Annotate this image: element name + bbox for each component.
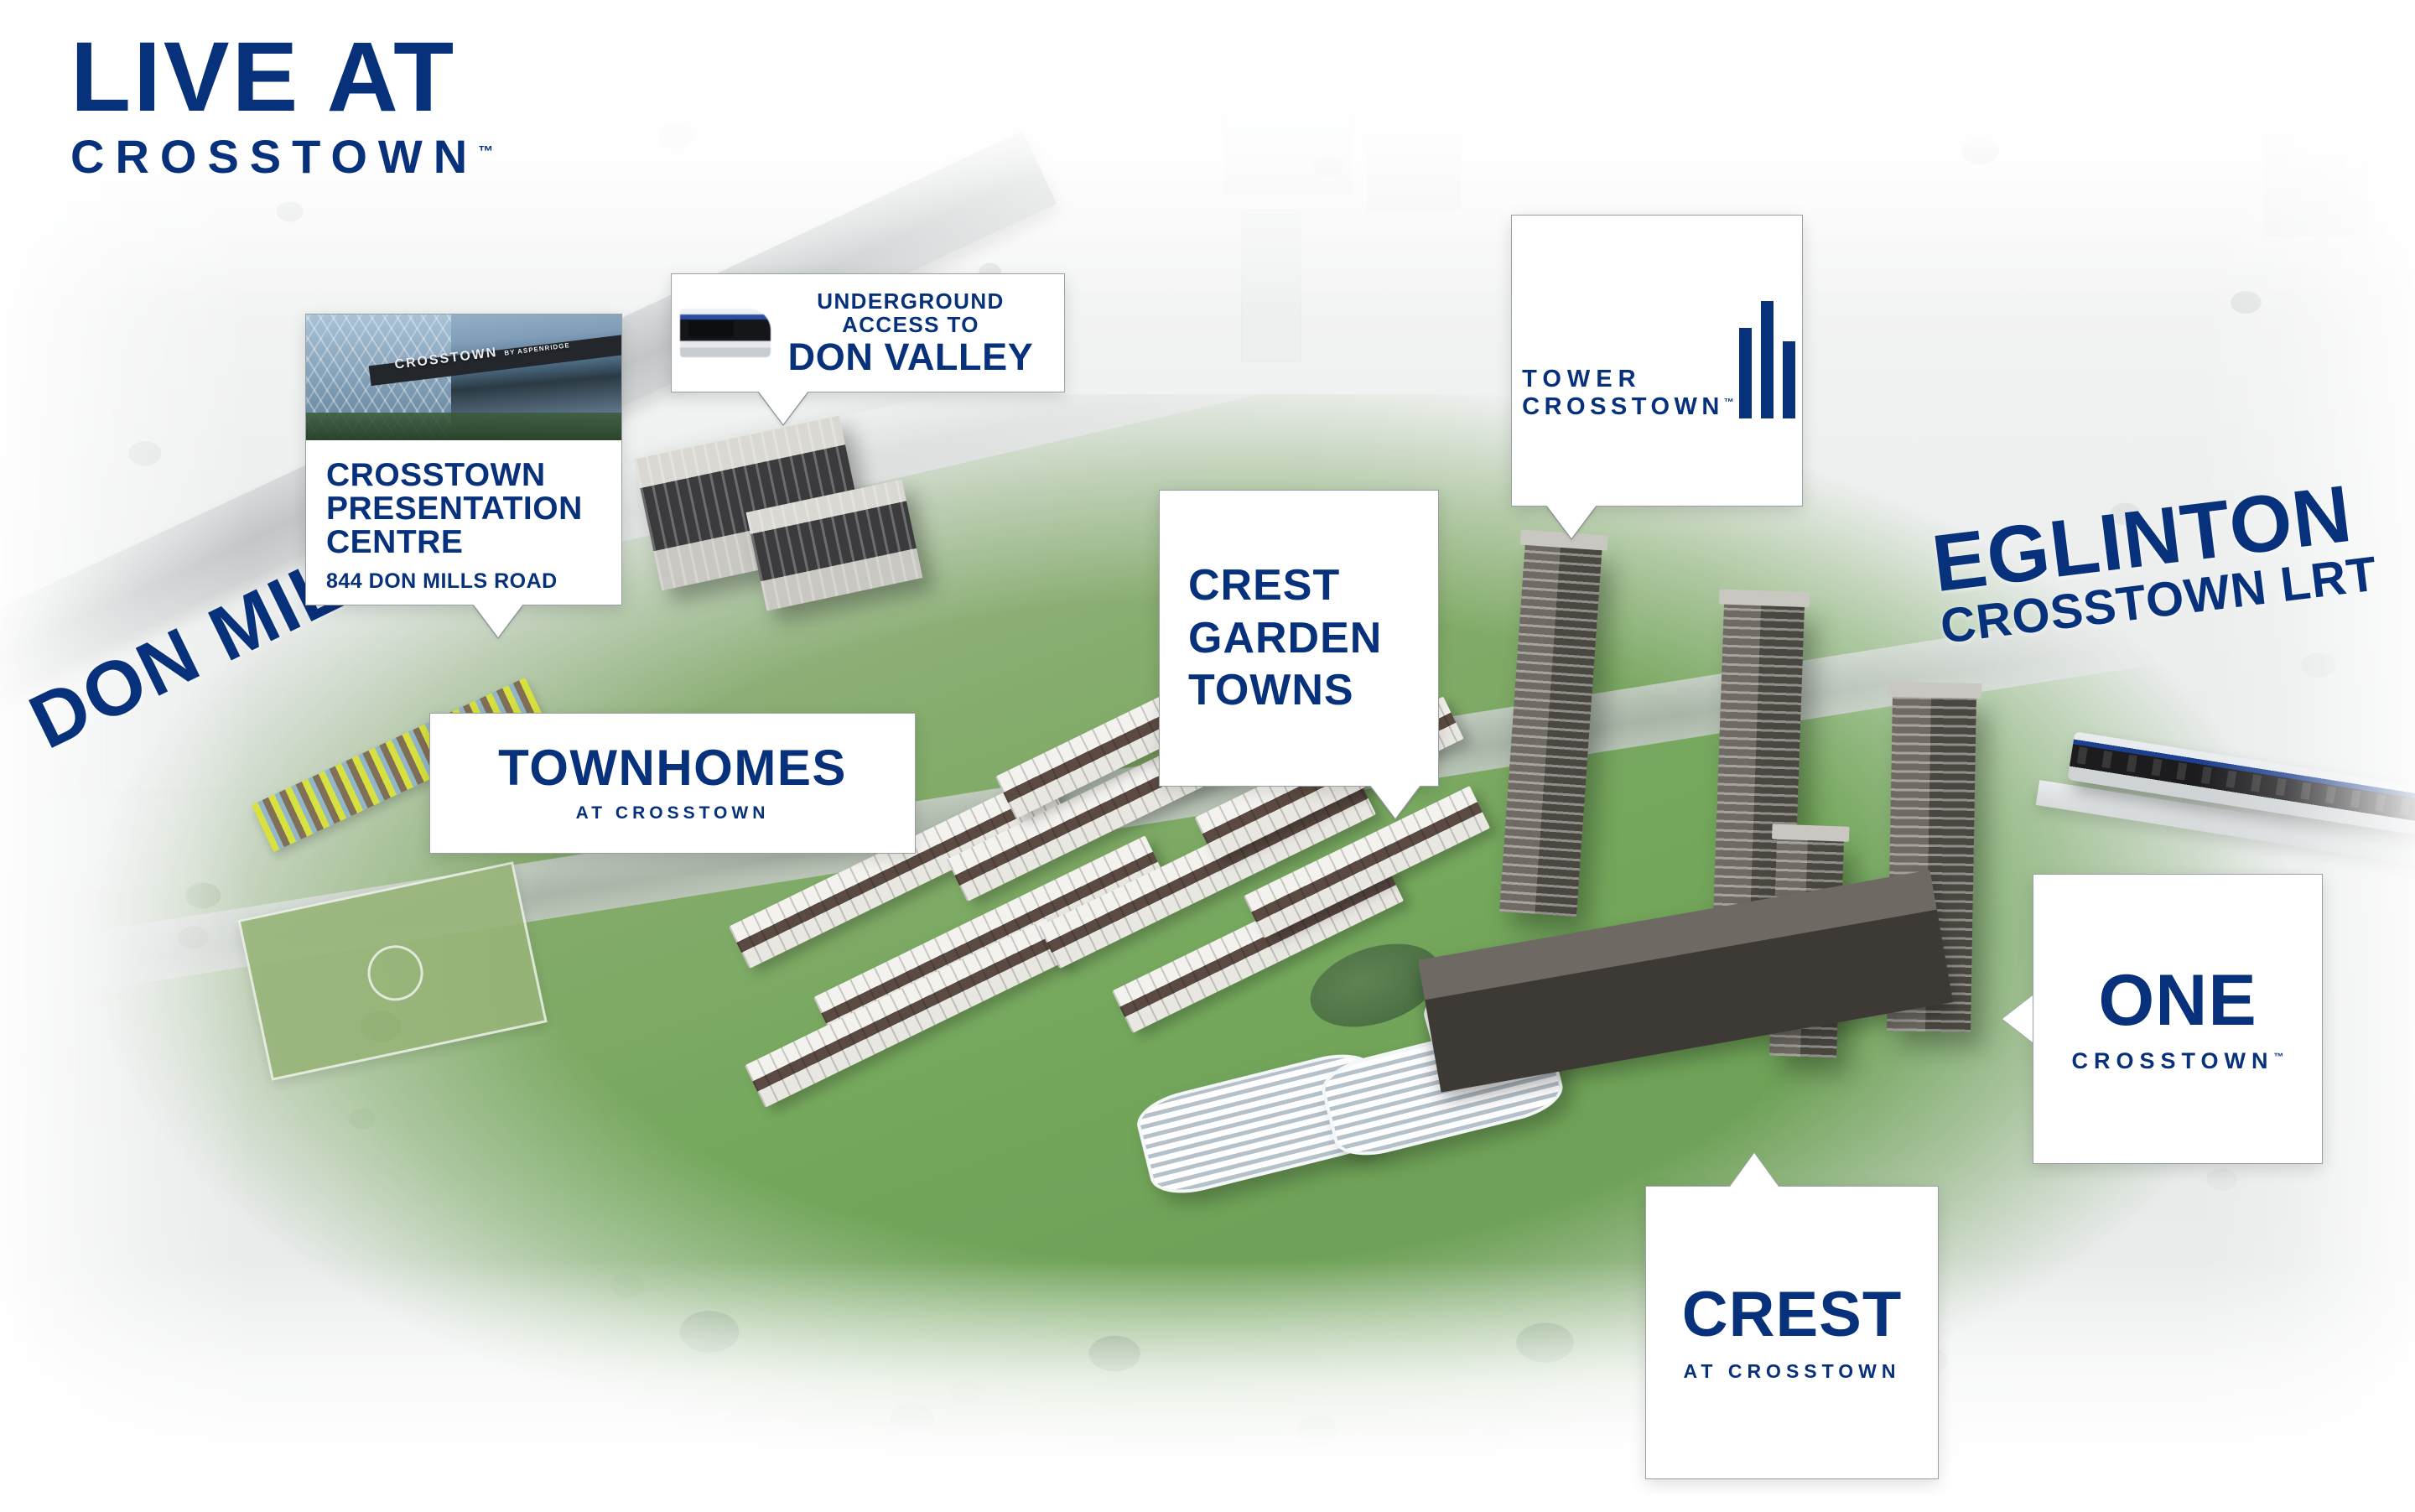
crest-garden-towns-line2: GARDEN: [1160, 612, 1438, 664]
callout-presentation-centre[interactable]: CROSSTOWNBY ASPENRIDGE CROSSTOWN PRESENT…: [305, 314, 622, 605]
callout-underground-access[interactable]: UNDERGROUND ACCESS TO DON VALLEY: [671, 273, 1065, 392]
crest-garden-towns-line3: TOWNS: [1160, 664, 1438, 716]
trademark-symbol: ™: [1724, 396, 1734, 408]
crest-line2: AT CROSSTOWN: [1684, 1360, 1901, 1383]
logo-line-live-at: LIVE AT: [70, 30, 493, 125]
field-center-circle: [362, 940, 428, 1005]
callout-crest[interactable]: CREST AT CROSSTOWN: [1645, 1186, 1939, 1479]
three-bars-tower-mark: [1739, 301, 1795, 418]
landscaping-strip: [306, 413, 621, 440]
lrt-train-icon: [680, 302, 771, 364]
callout-townhomes[interactable]: TOWNHOMES AT CROSSTOWN: [429, 713, 916, 854]
townhomes-line2: AT CROSSTOWN: [576, 803, 770, 824]
crest-garden-towns-line1: CREST: [1160, 559, 1438, 611]
callout-tower-crosstown[interactable]: TOWER CROSSTOWN™: [1511, 215, 1803, 507]
presentation-centre-title-line3: CENTRE: [326, 526, 603, 559]
trademark-symbol: ™: [2274, 1051, 2284, 1063]
trademark-symbol: ™: [478, 143, 493, 160]
tower-bar-2: [1761, 301, 1774, 418]
callout-crest-garden-towns[interactable]: CREST GARDEN TOWNS: [1159, 490, 1439, 787]
tower-bar-3: [1783, 341, 1795, 418]
presentation-centre-address: 844 DON MILLS ROAD: [326, 569, 603, 594]
tower-crosstown-line2-text: CROSSTOWN: [1522, 393, 1724, 420]
logo-line-crosstown: CROSSTOWN™: [70, 133, 493, 180]
tower-bar-1: [1739, 328, 1752, 418]
site-map-poster: LIVE AT CROSSTOWN™ DON MILLS EGLINTON CR…: [0, 0, 2415, 1512]
callout-tail-underground: [758, 391, 808, 424]
one-crosstown-line1: ONE: [2098, 964, 2257, 1037]
callout-tail-one: [2002, 995, 2033, 1042]
presentation-centre-photo: CROSSTOWNBY ASPENRIDGE: [306, 314, 621, 440]
presentation-centre-text: CROSSTOWN PRESENTATION CENTRE 844 DON MI…: [306, 440, 621, 607]
tower-crosstown-logo: TOWER CROSSTOWN™: [1522, 301, 1795, 420]
presentation-centre-title-line1: CROSSTOWN: [326, 459, 603, 492]
callout-tail-crest: [1730, 1153, 1779, 1187]
fade-bottom: [0, 1260, 2415, 1512]
townhomes-line1: TOWNHOMES: [498, 743, 847, 793]
callout-tail-tower: [1546, 505, 1597, 538]
tower-crosstown-line2: CROSSTOWN™: [1522, 393, 1734, 420]
underground-access-line2: DON VALLEY: [771, 337, 1051, 377]
logo-crosstown-text: CROSSTOWN: [70, 130, 478, 183]
underground-access-line1: UNDERGROUND ACCESS TO: [771, 289, 1051, 337]
callout-tail-cgt: [1370, 785, 1420, 818]
crest-line1: CREST: [1682, 1283, 1903, 1347]
one-crosstown-line2-text: CROSSTOWN: [2071, 1048, 2273, 1073]
one-crosstown-line2: CROSSTOWN™: [2071, 1048, 2283, 1074]
brand-logo: LIVE AT CROSSTOWN™: [70, 30, 493, 180]
callout-tail-presentation: [473, 604, 523, 637]
presentation-centre-title-line2: PRESENTATION: [326, 492, 603, 526]
callout-one-crosstown[interactable]: ONE CROSSTOWN™: [2033, 874, 2323, 1164]
tower-crosstown-line1: TOWER: [1522, 366, 1734, 392]
